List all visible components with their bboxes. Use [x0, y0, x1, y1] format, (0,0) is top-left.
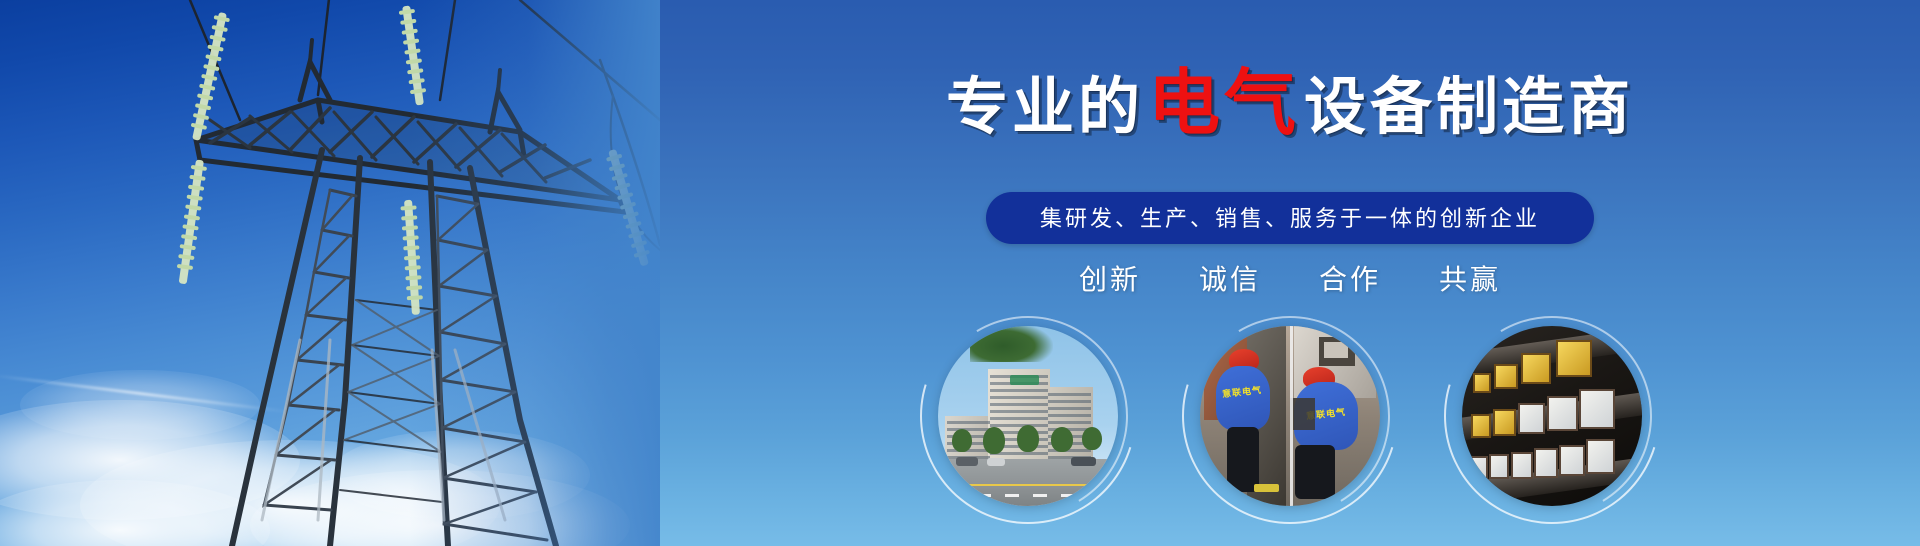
keyword-item: 合作	[1319, 258, 1381, 298]
subtitle-pill-container: 集研发、生产、销售、服务于一体的创新企业	[660, 192, 1920, 244]
promo-banner: 专业的电气设备制造商 集研发、生产、销售、服务于一体的创新企业 创新 诚信 合作…	[0, 0, 1920, 546]
circle-photo-row: 意联电气 意联电气	[660, 318, 1920, 514]
headline-part2: 设备制造商	[1304, 73, 1634, 142]
photo-gradient-fade	[0, 0, 660, 546]
circle-photo-workers[interactable]: 意联电气 意联电气	[1192, 318, 1388, 514]
keyword-item: 诚信	[1199, 258, 1261, 298]
certificate-honor-wall-photo	[1462, 326, 1642, 506]
office-building-photo	[938, 326, 1118, 506]
keyword-item: 创新	[1079, 258, 1141, 298]
circle-photo-certificates[interactable]	[1454, 318, 1650, 514]
transmission-tower-photo	[0, 0, 660, 546]
workers-installing-equipment-photo: 意联电气 意联电气	[1200, 326, 1380, 506]
subtitle-pill: 集研发、生产、销售、服务于一体的创新企业	[986, 192, 1594, 244]
keyword-row: 创新 诚信 合作 共赢	[660, 258, 1920, 298]
banner-content: 专业的电气设备制造商 集研发、生产、销售、服务于一体的创新企业 创新 诚信 合作…	[660, 0, 1920, 546]
circle-photo-office-building[interactable]	[930, 318, 1126, 514]
headline-highlight: 电气	[1148, 64, 1300, 144]
headline-part1: 专业的	[946, 73, 1144, 142]
page-title: 专业的电气设备制造商	[660, 68, 1920, 140]
keyword-item: 共赢	[1439, 258, 1501, 298]
